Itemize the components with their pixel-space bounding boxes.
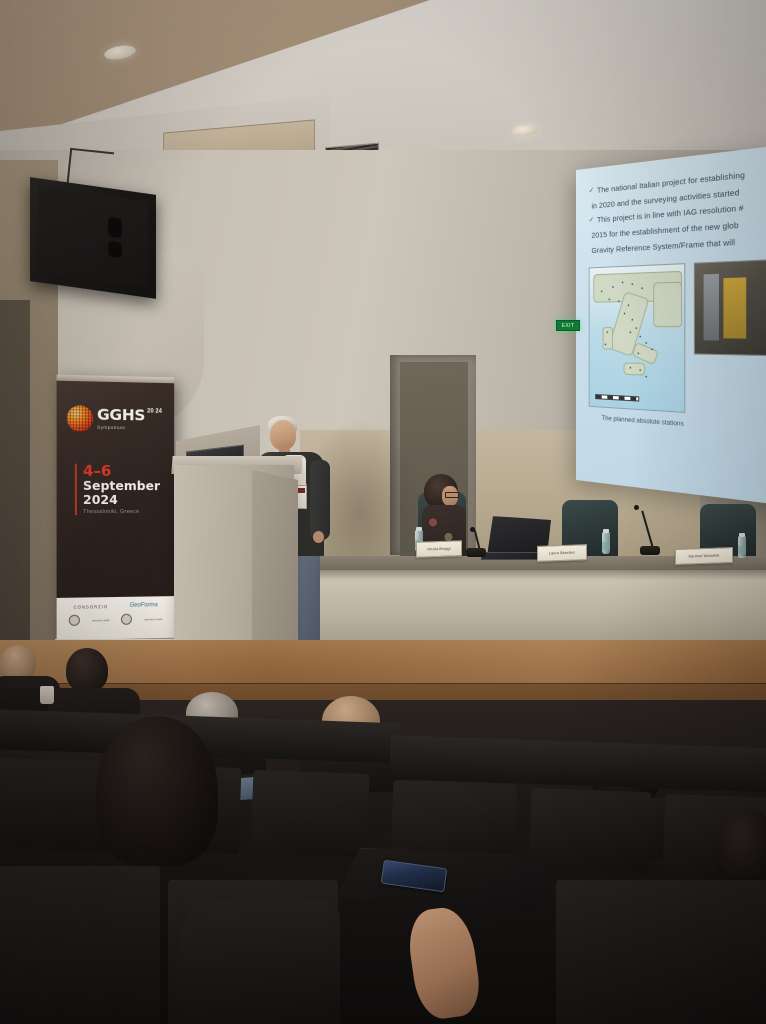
presenter-arm — [310, 460, 330, 540]
check-icon: ✓ — [589, 186, 594, 197]
banner-year-badge: 20 24 — [147, 409, 162, 415]
slide-figure-caption: The planned absolute stations — [602, 414, 766, 435]
projection-screen: ✓ The national Italian project for estab… — [576, 143, 766, 507]
absolute-gravimeter-icon — [723, 277, 746, 338]
banner-location: Thessaloniki, Greece — [83, 509, 174, 515]
instrument-rack — [704, 273, 719, 340]
audience-head-foreground — [96, 716, 218, 866]
check-icon: ✓ — [589, 216, 594, 227]
coffee-cup — [40, 686, 54, 704]
bottle-cap — [416, 527, 422, 531]
bottle-cap — [603, 529, 609, 533]
loudspeaker-driver-icon — [108, 216, 122, 238]
loudspeaker-driver-icon — [108, 240, 122, 258]
map-sicily — [624, 362, 646, 375]
nameplate-hartmut-wziontek: Hartmut Wziontek — [675, 547, 733, 565]
microphone-head-icon — [634, 505, 639, 510]
slide-figures: • • • — [589, 258, 766, 419]
nameplate-label: Nicola Broggi — [427, 547, 450, 552]
slide-content: ✓ The national Italian project for estab… — [576, 143, 766, 507]
nameplate-label: Hartmut Wziontek — [689, 553, 720, 558]
microphone-base — [466, 548, 486, 557]
loudspeaker-grille — [38, 186, 148, 287]
bottle-cap — [739, 533, 745, 537]
gghs-rollup-banner: GGHS 20 24 Symposium 4–6 September 2024 … — [57, 375, 175, 641]
gravimeter-photo — [694, 259, 766, 356]
banner-title: GGHS — [97, 408, 145, 424]
slide-bullet-list: ✓ The national Italian project for estab… — [589, 165, 766, 257]
ceiling-loudspeaker — [30, 177, 156, 299]
microphone-head-icon — [470, 527, 475, 532]
bottle-label — [602, 542, 610, 550]
sponsor-seal-icon — [69, 615, 80, 626]
nameplate-label: Laura Sánchez — [549, 551, 575, 556]
wall-left-dark-strip — [0, 300, 30, 660]
podium-side-panel — [252, 470, 298, 658]
seat-back-front-row[interactable] — [556, 880, 766, 1024]
sponsor-mark-icon — [121, 614, 132, 625]
sponsor-mark-caption: sponsor-mark — [144, 617, 162, 621]
seat-back[interactable] — [251, 770, 370, 858]
sponsor-row-bottom: sponsor-seal sponsor-mark — [57, 613, 175, 626]
banner-sponsor-strip: CONSORZIO GeoForma sponsor-seal sponsor-… — [57, 596, 175, 640]
sponsor-logo-consorzio: CONSORZIO — [74, 604, 109, 610]
sponsor-seal-caption: sponsor-seal — [92, 618, 109, 622]
panel-table-front-panel — [320, 570, 766, 642]
gghs-globe-logo-icon — [67, 405, 93, 432]
panel-table-edge-shadow — [320, 570, 766, 580]
exit-sign-label: EXIT — [562, 323, 575, 329]
map-sardinia — [603, 327, 613, 350]
banner-logo-lockup: GGHS 20 24 Symposium — [67, 401, 169, 437]
audience-head-foreground — [716, 810, 766, 890]
presenter-hand — [313, 531, 324, 543]
audience-head — [66, 648, 108, 692]
station-marker — [645, 342, 647, 344]
station-marker — [645, 375, 647, 377]
map-southern-italy — [632, 341, 659, 365]
panelist-glasses-icon — [445, 492, 459, 498]
nameplate-laura-sanchez: Laura Sánchez — [537, 544, 587, 562]
map-scale-bar — [595, 394, 639, 402]
bottle-label — [738, 546, 746, 554]
station-marker — [639, 335, 641, 337]
map-balkans-region — [653, 281, 682, 327]
sponsor-row-top: CONSORZIO GeoForma — [57, 602, 175, 610]
banner-year-line: 2024 — [83, 492, 174, 506]
microphone-base — [640, 546, 660, 555]
banner-month: September — [83, 479, 174, 493]
banner-subtitle: Symposium — [97, 424, 162, 430]
seat-back-front-row[interactable] — [180, 900, 340, 1024]
italy-gravity-station-map — [589, 263, 686, 413]
seat-back-front-row[interactable] — [0, 866, 160, 1024]
conference-hall-photo: ✓ The national Italian project for estab… — [0, 0, 766, 1024]
banner-date-block: 4–6 September 2024 Thessaloniki, Greece — [75, 464, 174, 515]
nameplate-nicola-broggi: Nicola Broggi — [416, 540, 462, 558]
sponsor-logo-geoforma: GeoForma — [129, 602, 157, 608]
emergency-exit-sign: EXIT — [556, 320, 580, 331]
